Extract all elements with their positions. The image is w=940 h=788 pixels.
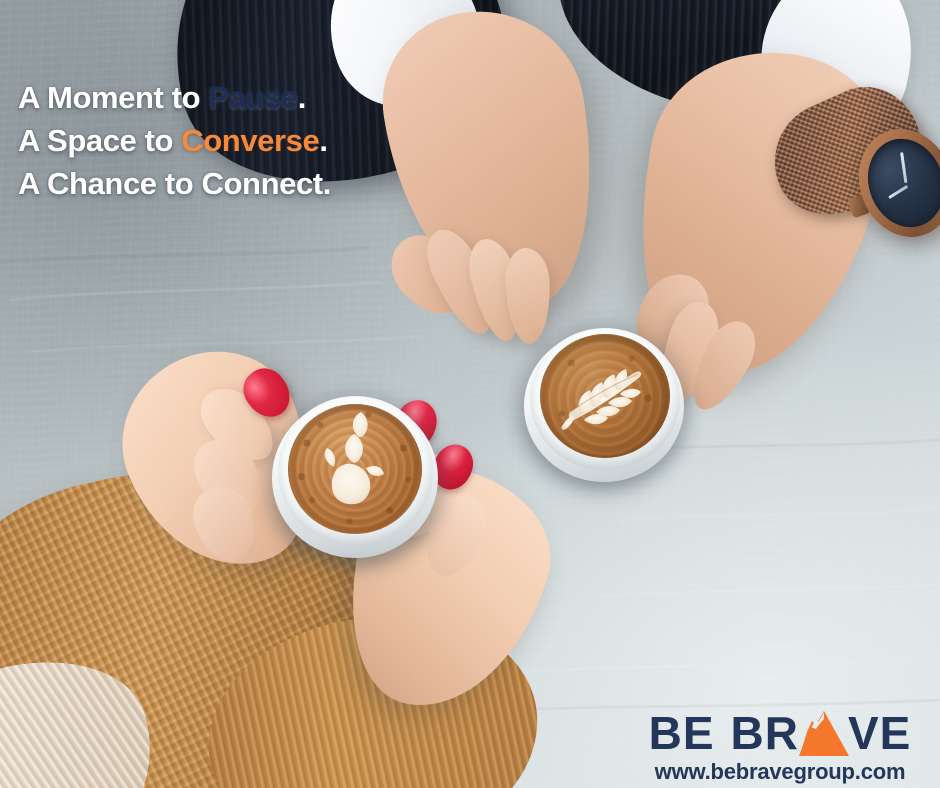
latte-art-rosetta xyxy=(540,334,670,458)
headline-emphasis-converse: Converse xyxy=(181,123,319,158)
logo-text-be: BE xyxy=(649,710,715,756)
headline-line-1-lead: A Moment to xyxy=(18,80,208,115)
headline-line-2: A Space to Converse. xyxy=(18,119,331,162)
headline-line-3: A Chance to Connect. xyxy=(18,162,331,205)
mountain-icon xyxy=(798,710,850,756)
latte-art-tulip xyxy=(288,404,422,534)
headline: A Moment to Pause. A Space to Converse. … xyxy=(18,76,331,205)
headline-line-1: A Moment to Pause. xyxy=(18,76,331,119)
headline-line-3-lead: A Chance to Connect. xyxy=(18,166,331,201)
headline-line-2-lead: A Space to xyxy=(18,123,181,158)
logo-text-ve: VE xyxy=(848,710,911,756)
headline-line-2-tail: . xyxy=(319,123,327,158)
social-graphic-canvas: A Moment to Pause. A Space to Converse. … xyxy=(0,0,940,788)
headline-emphasis-pause: Pause xyxy=(208,80,297,115)
brand-logo[interactable]: BE BR VE www.bebravegroup.com xyxy=(630,706,930,785)
logo-text-br: BR xyxy=(731,710,799,756)
logo-url[interactable]: www.bebravegroup.com xyxy=(630,759,930,785)
headline-line-1-tail: . xyxy=(298,80,306,115)
logo-wordmark: BE BR VE xyxy=(630,706,930,756)
